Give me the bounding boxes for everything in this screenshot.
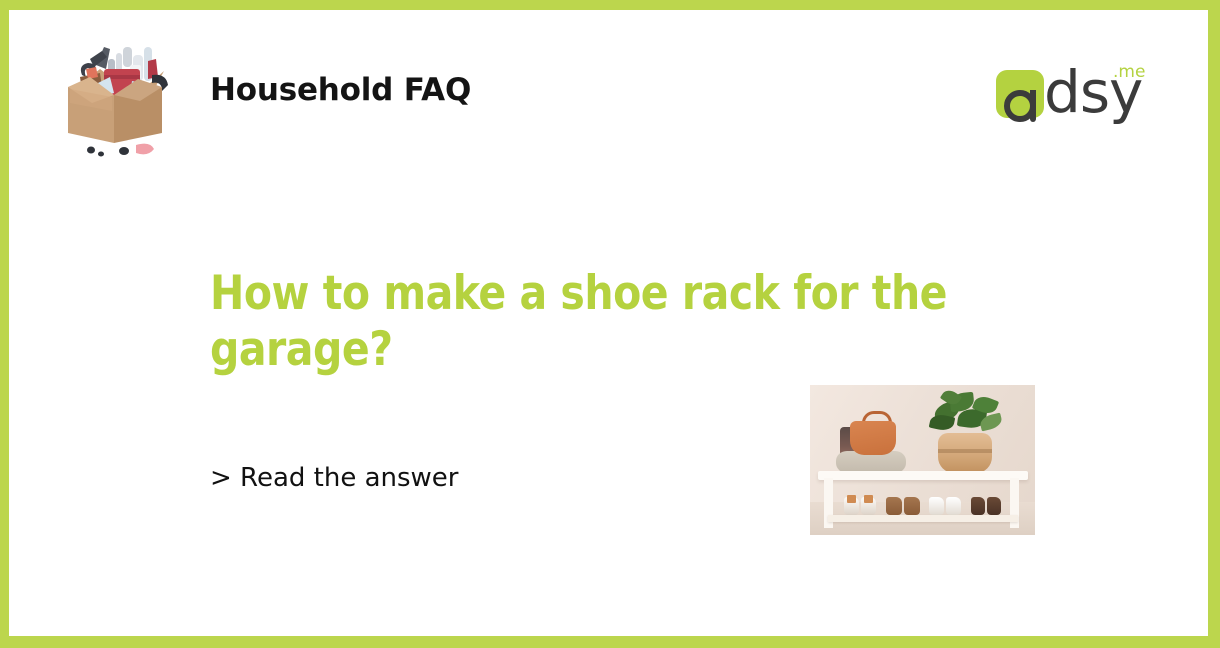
photo-bench-top bbox=[818, 471, 1028, 480]
logo-a-mark bbox=[996, 70, 1044, 118]
household-box-icon bbox=[44, 25, 184, 160]
photo-handbag bbox=[850, 421, 896, 455]
photo-shoe bbox=[971, 497, 985, 515]
photo-bench-shelf bbox=[828, 515, 1018, 522]
adsy-logo[interactable]: dsy .me bbox=[996, 58, 1151, 126]
photo-shoe bbox=[946, 497, 961, 515]
shoe-rack-photo bbox=[810, 385, 1035, 535]
read-the-answer-link[interactable]: > Read the answer bbox=[210, 463, 459, 493]
photo-plant bbox=[928, 389, 1006, 439]
photo-shoe bbox=[904, 497, 920, 515]
page-title: Household FAQ bbox=[210, 72, 471, 108]
photo-shoe-detail bbox=[847, 495, 856, 503]
frame-border-top bbox=[0, 0, 1220, 10]
headline: How to make a shoe rack for the garage? bbox=[210, 266, 1015, 378]
photo-shoe bbox=[886, 497, 902, 515]
photo-basket bbox=[938, 433, 992, 473]
photo-shoe-detail bbox=[864, 495, 873, 503]
header: Household FAQ dsy .me bbox=[0, 10, 1220, 160]
frame-border-bottom bbox=[0, 636, 1220, 648]
logo-a-stem bbox=[1030, 90, 1036, 122]
logo-suffix: .me bbox=[1113, 62, 1145, 82]
promo-card: Household FAQ dsy .me How to make a shoe… bbox=[0, 0, 1220, 648]
photo-shoe bbox=[929, 497, 944, 515]
photo-shoe bbox=[987, 497, 1001, 515]
